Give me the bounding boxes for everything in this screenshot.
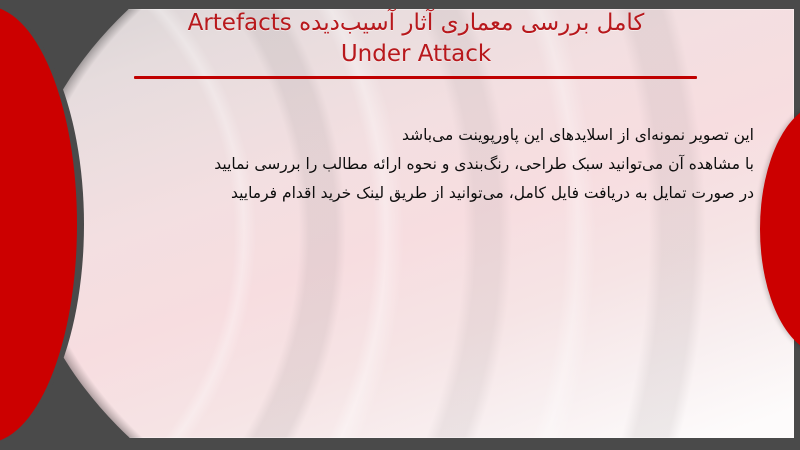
red-ellipse-decoration-left (0, 6, 84, 443)
slide-title-line-1: کامل بررسی معماری آثار آسیب‌دیده Artefac… (120, 8, 712, 39)
body-text-line-3: در صورت تمایل به دریافت فایل کامل، می‌تو… (120, 179, 754, 208)
body-text-line-1: این تصویر نمونه‌ای از اسلایدهای این پاور… (120, 121, 754, 150)
slide-body-text: این تصویر نمونه‌ای از اسلایدهای این پاور… (120, 121, 760, 208)
title-divider-rule (134, 76, 697, 79)
slide-title-line-2: Under Attack (120, 39, 712, 70)
slide-frame-bottom-band (0, 436, 800, 450)
presentation-slide: کامل بررسی معماری آثار آسیب‌دیده Artefac… (0, 0, 800, 450)
slide-title: کامل بررسی معماری آثار آسیب‌دیده Artefac… (120, 8, 712, 70)
body-text-line-2: با مشاهده آن می‌توانید سبک طراحی، رنگ‌بن… (120, 150, 754, 179)
slide-content-panel (24, 9, 794, 438)
